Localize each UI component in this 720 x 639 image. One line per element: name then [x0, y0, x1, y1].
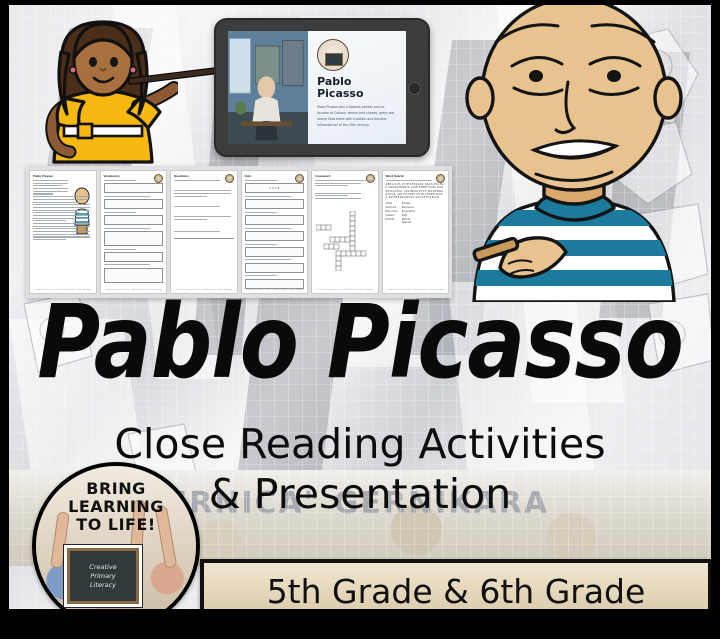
- page-title: Pablo Picasso: [0, 292, 720, 393]
- badge-line-2: LEARNING: [36, 498, 196, 516]
- frame-bottom: [0, 609, 720, 639]
- sheet-logo-icon: [225, 174, 234, 183]
- chalkboard-line-3: Literacy: [90, 581, 116, 589]
- slide-content: Pablo Picasso Pablo Picasso was a Spanis…: [308, 31, 406, 144]
- wordlist-column-2: Picasso Barcelona Royal Prize Italy Madr…: [402, 202, 415, 225]
- subtitle-line-1: Close Reading Activities: [0, 424, 720, 465]
- word-search-grid: ABRLICUS ZYBTLEPASLR RACSIPOLBAP NOISSER…: [386, 183, 446, 199]
- tablet-device: Pablo Picasso Pablo Picasso was a Spanis…: [214, 18, 430, 157]
- crossword-grid: [316, 211, 374, 275]
- worksheet-word-search: Word Search ABRLICUS ZYBTLEPASLR RACSIPO…: [382, 170, 450, 294]
- chalkboard-line-2: Primary: [90, 572, 115, 580]
- slide-logo-badge: [317, 39, 349, 71]
- frame-top: [0, 0, 720, 5]
- brand-logo-badge: BRING LEARNING TO LIFE! Creative Primary…: [32, 462, 200, 630]
- badge-line-1: BRING: [36, 480, 196, 498]
- frame-right: [711, 0, 720, 639]
- worksheet-crossword: Crossword: [311, 170, 379, 294]
- tablet-screen: Pablo Picasso Pablo Picasso was a Spanis…: [228, 31, 406, 144]
- badge-line-3: TO LIFE!: [36, 516, 196, 534]
- worksheet-header: Pablo Picasso: [33, 175, 93, 178]
- word-search-wordlist: Artist Guernica Blue Color Cubism Portra…: [386, 202, 446, 225]
- grade-band-label: 5th Grade & 6th Grade: [267, 572, 646, 611]
- picasso-photo: [228, 31, 308, 144]
- sheet-logo-icon: [295, 174, 304, 183]
- sheet-logo-icon: [366, 174, 375, 183]
- wordlist-column-1: Artist Guernica Blue Color Cubism Portra…: [386, 202, 398, 225]
- badge-tagline: BRING LEARNING TO LIFE!: [36, 480, 196, 534]
- chalkboard: Creative Primary Literacy: [63, 544, 143, 608]
- worksheet-vocabulary: Vocabulary Creative Primary Literacy | P…: [100, 170, 168, 294]
- chalkboard-line-1: Creative: [89, 563, 116, 571]
- product-cover: "GUERNICA" GERNIKARA: [0, 0, 720, 639]
- sheet-logo-icon: [154, 174, 163, 183]
- slide-title: Pablo Picasso: [317, 76, 397, 100]
- worksheet-previews: Pablo Picasso Creative Primary Literacy …: [26, 166, 452, 298]
- worksheet-questions: Questions Creative Primary Literacy | Pa…: [170, 170, 238, 294]
- worksheet-multiple-choice: Quiz 1 2 3 4 Creative Primary Literacy |…: [241, 170, 309, 294]
- teacher-illustration: [28, 14, 178, 169]
- frame-left: [0, 0, 9, 639]
- tablet-home-button: [408, 82, 421, 95]
- picasso-cartoon-illustration: [440, 2, 708, 302]
- worksheet-reading-passage: Pablo Picasso Creative Primary Literacy …: [29, 170, 97, 294]
- slide-body-text: Pablo Picasso was a Spanish painter and …: [317, 105, 397, 129]
